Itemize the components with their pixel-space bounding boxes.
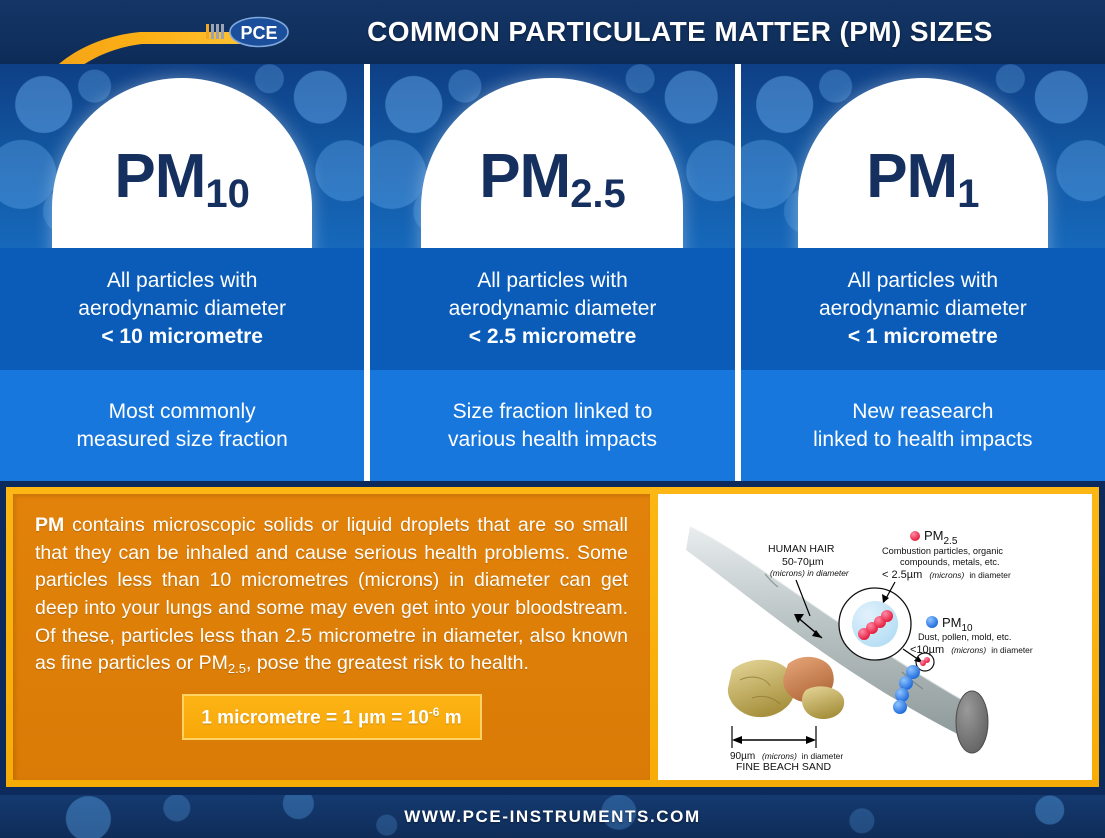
- pm10-desc1-label: Dust, pollen, mold, etc.: [918, 632, 1011, 642]
- pm-card-header-pm1: PM1: [741, 64, 1105, 248]
- pm-card-pm25: PM2.5 All particles with aerodynamic dia…: [370, 64, 734, 481]
- note-line-1: Most commonly: [109, 400, 256, 423]
- info-panel: PM contains microscopic solids or liquid…: [6, 487, 1099, 787]
- formula-tail: m: [439, 707, 461, 728]
- pm-card-definition-pm1: All particles with aerodynamic diameter …: [741, 248, 1105, 370]
- definition-threshold: < 10 micrometre: [101, 325, 263, 348]
- pm10-microns-note: (microns): [951, 645, 986, 655]
- pm-card-header-pm25: PM2.5: [370, 64, 734, 248]
- footer-website-link[interactable]: WWW.PCE-INSTRUMENTS.COM: [404, 807, 701, 827]
- definition-line-2: aerodynamic diameter: [819, 297, 1027, 320]
- pm-card-title-pm10: PM10: [0, 146, 364, 208]
- svg-text:< 2.5µm (microns): < 2.5µm (microns) in diameter: [882, 569, 1011, 581]
- pm25-size-label: < 2.5µm: [882, 569, 922, 581]
- svg-text:PCE: PCE: [240, 23, 277, 43]
- pm25-microns-note: (microns): [929, 570, 964, 580]
- pm25-title-label: PM: [924, 528, 944, 543]
- pm25-desc1-label: Combustion particles, organic: [882, 546, 1003, 556]
- pm-card-definition-pm25: All particles with aerodynamic diameter …: [370, 248, 734, 370]
- pm-prefix: PM: [114, 142, 205, 211]
- header-bar: PCE COMMON PARTICULATE MATTER (PM) SIZES: [0, 0, 1105, 64]
- note-line-2: measured size fraction: [77, 428, 288, 451]
- pm25-desc2-label: compounds, metals, etc.: [900, 557, 1000, 567]
- definition-line-1: All particles with: [477, 269, 628, 292]
- footer-bar: WWW.PCE-INSTRUMENTS.COM: [0, 795, 1105, 838]
- hair-size-label: 50-70µm: [782, 556, 824, 568]
- formula-main: 1 micrometre = 1 µm = 10: [201, 707, 428, 728]
- pm-card-title-pm1: PM1: [741, 146, 1105, 208]
- pm-card-pm10: PM10 All particles with aerodynamic diam…: [0, 64, 364, 481]
- pm10-title-label: PM: [942, 615, 962, 630]
- note-line-1: Size fraction linked to: [453, 400, 653, 423]
- definition-line-1: All particles with: [848, 269, 999, 292]
- pm-cards-row: PM10 All particles with aerodynamic diam…: [0, 64, 1105, 481]
- figure-source-label: SOURCE: USEPA: [1088, 614, 1092, 774]
- hair-microns-note: (microns) in diameter: [770, 568, 850, 578]
- pm-subscript: 10: [205, 172, 250, 216]
- definition-line-2: aerodynamic diameter: [449, 297, 657, 320]
- definition-threshold: < 2.5 micrometre: [469, 325, 637, 348]
- pm-card-pm1: PM1 All particles with aerodynamic diame…: [741, 64, 1105, 481]
- description-panel: PM contains microscopic solids or liquid…: [13, 494, 650, 780]
- sand-title-label: FINE BEACH SAND: [736, 761, 832, 772]
- definition-line-1: All particles with: [107, 269, 258, 292]
- hair-title-label: HUMAN HAIR: [768, 543, 835, 555]
- pm-prefix: PM: [479, 142, 570, 211]
- logo-bars-icon: [206, 24, 224, 39]
- epa-particle-size-diagram: 90µm (microns) in diameter FINE BEACH SA…: [670, 504, 1040, 772]
- pm-card-note-pm25: Size fraction linked to various health i…: [370, 370, 734, 481]
- formula-exponent: -6: [429, 705, 440, 719]
- note-line-2: various health impacts: [448, 428, 657, 451]
- description-subscript: 2.5: [228, 661, 246, 676]
- epa-diagram-svg: 90µm (microns) in diameter FINE BEACH SA…: [670, 504, 1040, 772]
- pm-card-header-pm10: PM10: [0, 64, 364, 248]
- pm-card-title-pm25: PM2.5: [370, 146, 734, 208]
- pm-prefix: PM: [866, 142, 957, 211]
- pm-subscript: 1: [957, 172, 979, 216]
- sand-microns-note: (microns): [762, 751, 797, 761]
- infographic-root: PCE COMMON PARTICULATE MATTER (PM) SIZES…: [0, 0, 1105, 838]
- pm-card-note-pm1: New reasearch linked to health impacts: [741, 370, 1105, 481]
- pm10-size-label: <10µm: [910, 644, 944, 656]
- pce-logo-icon: PCE: [228, 16, 290, 48]
- note-line-1: New reasearch: [852, 400, 993, 423]
- description-text-part2: , pose the greatest risk to health.: [246, 652, 529, 674]
- pm-subscript: 2.5: [570, 172, 626, 216]
- description-paragraph: PM contains microscopic solids or liquid…: [35, 512, 628, 678]
- unit-conversion-box: 1 micrometre = 1 µm = 10-6 m: [182, 694, 482, 740]
- definition-line-2: aerodynamic diameter: [78, 297, 286, 320]
- pm-card-note-pm10: Most commonly measured size fraction: [0, 370, 364, 481]
- definition-threshold: < 1 micrometre: [848, 325, 998, 348]
- description-text-part1: contains microscopic solids or liquid dr…: [35, 514, 628, 674]
- pm-card-definition-pm10: All particles with aerodynamic diameter …: [0, 248, 364, 370]
- description-lead: PM: [35, 514, 64, 536]
- note-line-2: linked to health impacts: [813, 428, 1032, 451]
- epa-figure-panel: 90µm (microns) in diameter FINE BEACH SA…: [658, 494, 1092, 780]
- page-title: COMMON PARTICULATE MATTER (PM) SIZES: [300, 0, 1060, 64]
